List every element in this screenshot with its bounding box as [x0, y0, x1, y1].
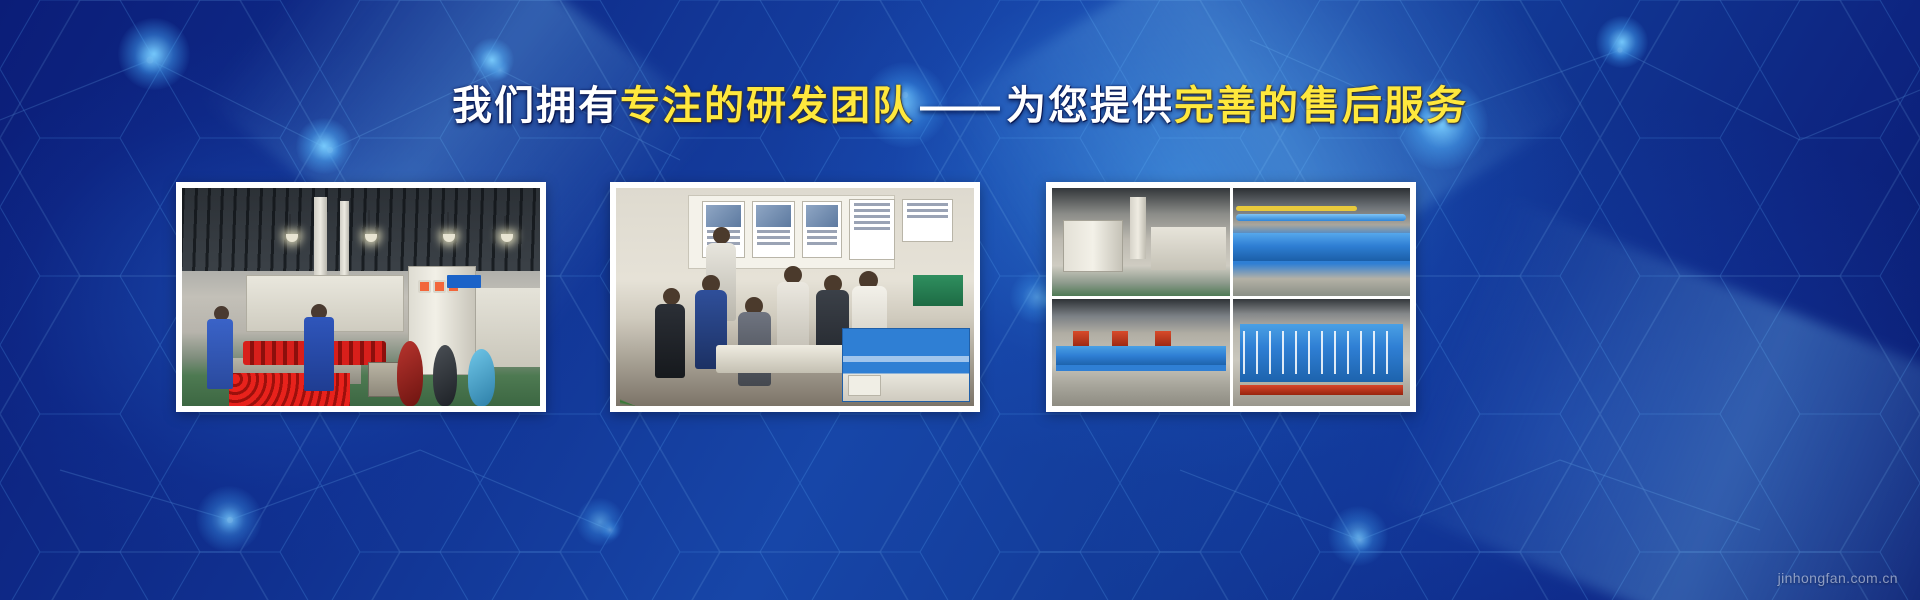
- headline-segment-3: 为您提供: [1006, 84, 1174, 128]
- photo-panel-group: [0, 182, 1920, 414]
- promotional-banner: 我们拥有专注的研发团队——为您提供完善的售后服务: [0, 0, 1920, 600]
- headline-separator-dash: ——: [914, 84, 1006, 128]
- photo-production-line: [176, 182, 546, 412]
- headline-segment-1: 我们拥有: [452, 84, 620, 128]
- site-watermark: jinhongfan.com.cn: [1778, 570, 1898, 586]
- banner-headline: 我们拥有专注的研发团队——为您提供完善的售后服务: [0, 84, 1920, 128]
- headline-segment-2: 专注的研发团队: [620, 84, 914, 128]
- photo-equipment-quad: [1046, 182, 1416, 412]
- photo-team-meeting: [610, 182, 980, 412]
- headline-segment-4: 完善的售后服务: [1174, 84, 1468, 128]
